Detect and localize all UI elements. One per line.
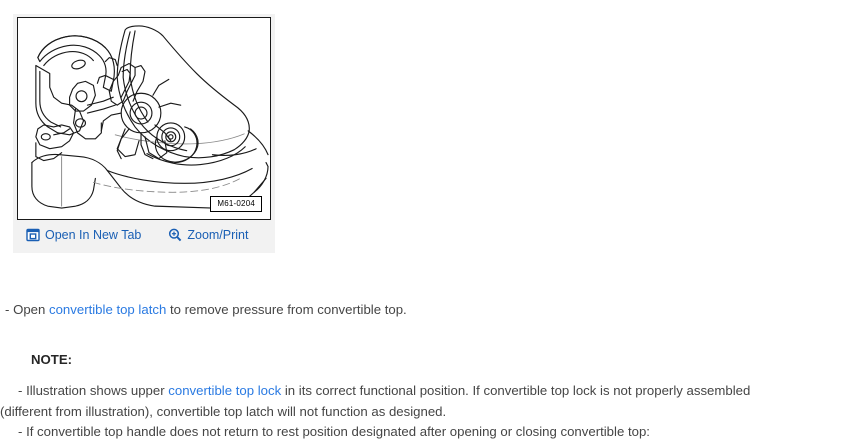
- open-in-new-tab-icon: [26, 228, 40, 242]
- spacer-2: [0, 370, 847, 381]
- step-1-before-link: Open: [9, 302, 49, 317]
- open-in-new-tab-label: Open In New Tab: [45, 228, 141, 242]
- link-convertible-top-latch[interactable]: convertible top latch: [49, 302, 166, 317]
- zoom-print-button[interactable]: Zoom/Print: [168, 228, 248, 242]
- step-line-1: - Open convertible top latch to remove p…: [0, 300, 847, 320]
- figure-panel: M61-0204 Open In New Tab: [13, 14, 275, 253]
- note-1-before-link: Illustration shows upper: [22, 383, 168, 398]
- magnifier-plus-icon: [168, 228, 182, 242]
- note-1-after-link: in its correct functional position. If c…: [281, 383, 750, 398]
- zoom-print-label: Zoom/Print: [187, 228, 248, 242]
- figure-image-frame: M61-0204: [17, 17, 271, 220]
- note-line-2: - If convertible top handle does not ret…: [0, 422, 847, 443]
- instruction-content: - Open convertible top latch to remove p…: [0, 300, 847, 443]
- note-line-1-wrap: (different from illustration), convertib…: [0, 402, 847, 423]
- convertible-top-latch-illustration: [18, 18, 270, 219]
- part-number-tag: M61-0204: [210, 196, 262, 212]
- open-in-new-tab-button[interactable]: Open In New Tab: [26, 228, 141, 242]
- step-1-after-link: to remove pressure from convertible top.: [166, 302, 406, 317]
- link-convertible-top-lock[interactable]: convertible top lock: [168, 383, 281, 398]
- spacer-1: [0, 320, 847, 350]
- note-2-text: If convertible top handle does not retur…: [22, 424, 650, 439]
- figure-toolbar: Open In New Tab Zoom/Print: [17, 220, 271, 249]
- note-heading: NOTE:: [0, 350, 847, 370]
- note-line-1: - Illustration shows upper convertible t…: [0, 381, 847, 402]
